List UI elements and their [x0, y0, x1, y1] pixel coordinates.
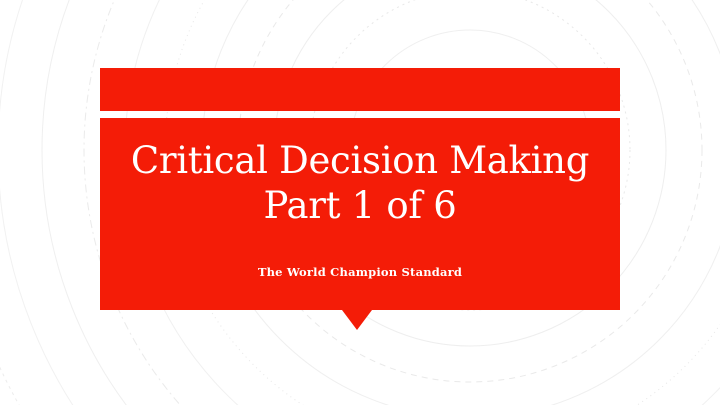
page-subtitle: The World Champion Standard [100, 265, 620, 279]
callout-top-bar [100, 68, 620, 111]
callout-body: Critical Decision Making Part 1 of 6 The… [100, 118, 620, 310]
page-title: Critical Decision Making Part 1 of 6 [100, 138, 620, 228]
title-line-2: Part 1 of 6 [100, 183, 620, 228]
title-line-1: Critical Decision Making [100, 138, 620, 183]
title-callout: Critical Decision Making Part 1 of 6 The… [100, 68, 620, 310]
slide-canvas: Critical Decision Making Part 1 of 6 The… [0, 0, 720, 405]
callout-divider-gap [100, 111, 620, 118]
callout-tail [342, 310, 372, 330]
